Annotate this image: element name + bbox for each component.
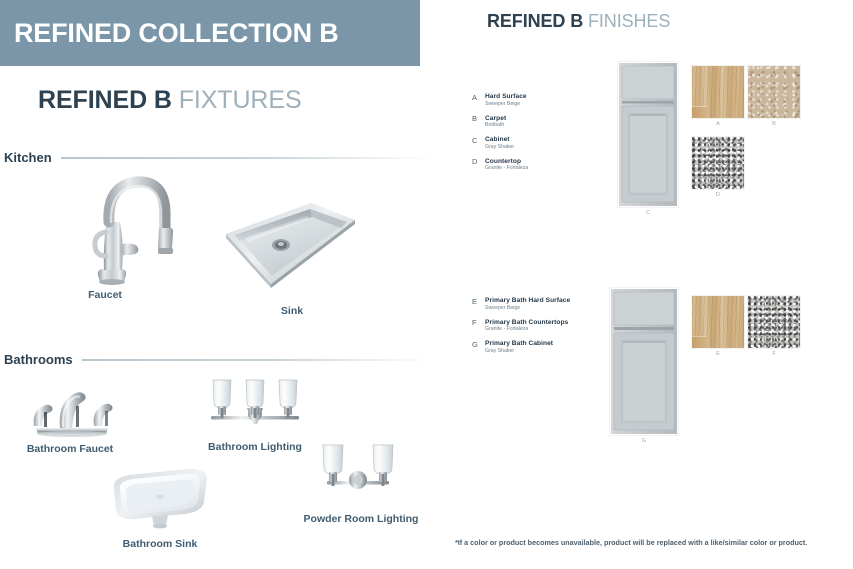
legend-sub: Granite - Fortaleza <box>485 327 568 333</box>
carpet-swatch: B <box>748 66 800 118</box>
legend-sub: Sweeper Beige <box>485 306 570 312</box>
caption-powder-room-lighting: Powder Room Lighting <box>296 513 426 525</box>
group-divider-bathrooms <box>82 359 432 361</box>
legend-item: B Carpet Birdbath <box>472 115 528 130</box>
legend-letter: C <box>472 136 485 145</box>
group-header-kitchen: Kitchen <box>4 150 436 165</box>
legend-sub: Gray Shaker <box>485 145 514 151</box>
finishes-panel-heading: REFINED B FINISHES <box>487 11 670 32</box>
availability-disclaimer: *If a color or product becomes unavailab… <box>455 538 807 547</box>
fixtures-heading-light: FIXTURES <box>179 86 302 114</box>
legend-name: Hard Surface <box>485 93 527 101</box>
legend-letter: D <box>472 158 485 167</box>
bathroom-vanity-light-icon <box>203 378 307 439</box>
bathroom-faucet-icon <box>22 382 118 442</box>
legend-letter: E <box>472 297 485 306</box>
swatch-letter: E <box>692 351 744 357</box>
granite-texture <box>748 296 800 348</box>
finishes-heading-strong: REFINED B <box>487 11 583 31</box>
swatch-letter: G <box>610 438 678 444</box>
legend-item: A Hard Surface Sweeper Beige <box>472 93 528 108</box>
legend-name: Primary Bath Cabinet <box>485 340 553 348</box>
powder-room-light-icon <box>315 443 401 510</box>
swatch-letter: A <box>692 121 744 127</box>
carpet-texture <box>748 66 800 118</box>
swatch-letter: C <box>618 210 678 216</box>
kitchen-faucet-icon <box>78 170 188 293</box>
wood-texture <box>692 296 744 348</box>
caption-bathroom-lighting: Bathroom Lighting <box>198 441 312 453</box>
legend-name: Primary Bath Countertops <box>485 319 568 327</box>
swatch-letter: F <box>748 351 800 357</box>
group-divider-kitchen <box>61 157 433 159</box>
collection-board-page: REFINED COLLECTION B REFINED B FIXTURES … <box>0 0 853 569</box>
fixtures-panel-heading: REFINED B FIXTURES <box>38 86 302 115</box>
group-label-bathrooms: Bathrooms <box>4 352 73 367</box>
group-header-bathrooms: Bathrooms <box>4 352 436 367</box>
finishes-legend-primary: A Hard Surface Sweeper Beige B Carpet Bi… <box>472 93 528 179</box>
legend-name: Carpet <box>485 115 506 123</box>
wood-texture <box>692 66 744 118</box>
legend-sub: Sweeper Beige <box>485 102 527 108</box>
page-title: REFINED COLLECTION B <box>0 18 339 49</box>
caption-bathroom-sink: Bathroom Sink <box>112 538 208 550</box>
legend-name: Primary Bath Hard Surface <box>485 297 570 305</box>
finishes-legend-secondary: E Primary Bath Hard Surface Sweeper Beig… <box>472 297 570 362</box>
legend-sub: Granite - Fortaleza <box>485 166 528 172</box>
swatch-letter: D <box>692 192 744 198</box>
legend-item: F Primary Bath Countertops Granite - For… <box>472 319 570 334</box>
legend-sub: Birdbath <box>485 123 506 129</box>
wood-plank-swatch-secondary: E <box>692 296 744 348</box>
legend-item: G Primary Bath Cabinet Gray Shaker <box>472 340 570 355</box>
collection-title-bar: REFINED COLLECTION B <box>0 0 420 66</box>
legend-item: D Countertop Granite - Fortaleza <box>472 158 528 173</box>
legend-letter: B <box>472 115 485 124</box>
group-label-kitchen: Kitchen <box>4 150 52 165</box>
legend-sub: Gray Shaker <box>485 349 553 355</box>
caption-bathroom-faucet: Bathroom Faucet <box>8 443 132 455</box>
granite-swatch-secondary: F <box>748 296 800 348</box>
caption-kitchen-sink: Sink <box>250 305 334 317</box>
finishes-heading-light: FINISHES <box>588 11 670 31</box>
legend-name: Cabinet <box>485 136 514 144</box>
legend-letter: F <box>472 319 485 328</box>
granite-swatch: D <box>692 137 744 189</box>
bathroom-sink-icon <box>108 466 211 536</box>
granite-texture <box>692 137 744 189</box>
legend-letter: A <box>472 93 485 102</box>
cabinet-door-swatch-secondary: G <box>610 288 678 435</box>
legend-item: C Cabinet Gray Shaker <box>472 136 528 151</box>
fixtures-heading-strong: REFINED B <box>38 86 172 114</box>
kitchen-sink-icon <box>215 198 360 295</box>
caption-kitchen-faucet: Faucet <box>60 289 150 301</box>
legend-name: Countertop <box>485 158 528 166</box>
wood-plank-swatch: A <box>692 66 744 118</box>
swatch-letter: B <box>748 121 800 127</box>
legend-item: E Primary Bath Hard Surface Sweeper Beig… <box>472 297 570 312</box>
cabinet-door-swatch: C <box>618 62 678 207</box>
legend-letter: G <box>472 340 485 349</box>
